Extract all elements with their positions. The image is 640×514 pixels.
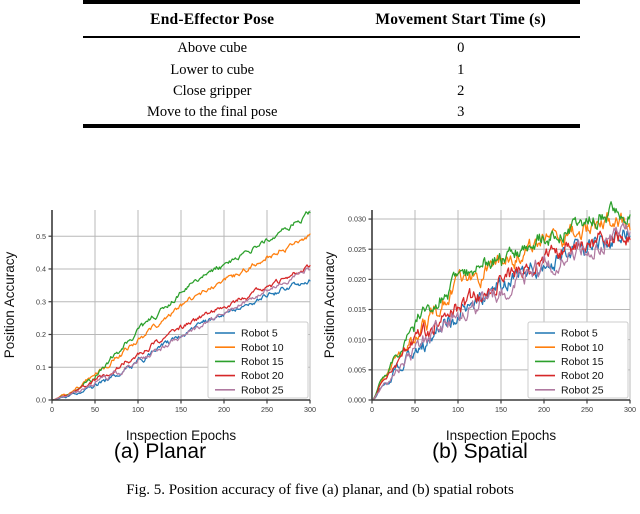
y-tick-label: 0.030: [348, 215, 366, 224]
cell-pose: Lower to cube: [83, 59, 341, 80]
y-tick-label: 0.015: [348, 305, 366, 314]
legend[interactable]: Robot 5Robot 10Robot 15Robot 20Robot 25: [528, 322, 628, 398]
x-tick-label: 100: [452, 405, 464, 414]
y-tick-label: 0.4: [36, 265, 46, 274]
x-tick-label: 50: [91, 405, 99, 414]
table-row: Close gripper2: [83, 81, 580, 102]
cell-time: 1: [341, 59, 580, 80]
spec-table: End-Effector Pose Movement Start Time (s…: [83, 4, 580, 36]
y-tick-label: 0.1: [36, 363, 46, 372]
y-tick-label: 0.010: [348, 335, 366, 344]
x-tick-label: 200: [218, 405, 230, 414]
x-tick-label: 150: [495, 405, 507, 414]
y-tick-label: 0.005: [348, 365, 366, 374]
legend-label-3: Robot 15: [241, 356, 284, 368]
legend-label-4: Robot 20: [241, 370, 284, 382]
legend-label-3: Robot 15: [561, 356, 604, 368]
x-tick-label: 250: [261, 405, 273, 414]
y-tick-label: 0.000: [348, 396, 366, 405]
cell-time: 0: [341, 38, 580, 59]
subcaption-planar: (a) Planar: [0, 440, 320, 464]
x-tick-label: 50: [411, 405, 419, 414]
legend-label-2: Robot 10: [241, 342, 284, 354]
cell-pose: Above cube: [83, 38, 341, 59]
x-tick-label: 0: [370, 405, 374, 414]
legend-label-4: Robot 20: [561, 370, 604, 382]
x-tick-label: 0: [50, 405, 54, 414]
y-tick-label: 0.2: [36, 330, 46, 339]
x-tick-label: 100: [132, 405, 144, 414]
y-tick-label: 0.0: [36, 396, 46, 405]
legend-label-2: Robot 10: [561, 342, 604, 354]
column-header-pose: End-Effector Pose: [83, 4, 341, 36]
x-tick-label: 150: [175, 405, 187, 414]
y-tick-label: 0.020: [348, 275, 366, 284]
column-header-time: Movement Start Time (s): [341, 4, 580, 36]
figure-caption: Fig. 5. Position accuracy of five (a) pl…: [0, 482, 640, 499]
y-tick-label: 0.5: [36, 232, 46, 241]
figure-block: 0.00.10.20.30.40.5050100150200250300Insp…: [0, 196, 640, 514]
cell-time: 2: [341, 81, 580, 102]
spec-table-block: End-Effector Pose Movement Start Time (s…: [83, 0, 580, 128]
chart-panel-spatial: 0.0000.0050.0100.0150.0200.0250.03005010…: [320, 196, 640, 446]
chart-panel-planar: 0.00.10.20.30.40.5050100150200250300Insp…: [0, 196, 320, 446]
table-row: Move to the final pose3: [83, 102, 580, 123]
table-row: Lower to cube1: [83, 59, 580, 80]
cell-time: 3: [341, 102, 580, 123]
chart-planar: 0.00.10.20.30.40.5050100150200250300Insp…: [0, 196, 320, 446]
y-axis-title: Position Accuracy: [322, 251, 337, 358]
x-tick-label: 250: [581, 405, 593, 414]
spec-table-body: Above cube0Lower to cube1Close gripper2M…: [83, 38, 580, 124]
y-axis-title: Position Accuracy: [2, 251, 17, 358]
legend-label-1: Robot 5: [241, 328, 278, 340]
y-tick-label: 0.025: [348, 245, 366, 254]
legend-label-5: Robot 25: [241, 384, 284, 396]
legend[interactable]: Robot 5Robot 10Robot 15Robot 20Robot 25: [208, 322, 308, 398]
x-tick-label: 200: [538, 405, 550, 414]
subcaption-spatial: (b) Spatial: [320, 440, 640, 464]
legend-label-1: Robot 5: [561, 328, 598, 340]
y-tick-label: 0.3: [36, 297, 46, 306]
cell-pose: Close gripper: [83, 81, 341, 102]
x-tick-label: 300: [624, 405, 636, 414]
x-tick-label: 300: [304, 405, 316, 414]
table-bottom-rule: [83, 124, 580, 128]
legend-label-5: Robot 25: [561, 384, 604, 396]
cell-pose: Move to the final pose: [83, 102, 341, 123]
table-row: Above cube0: [83, 38, 580, 59]
chart-spatial: 0.0000.0050.0100.0150.0200.0250.03005010…: [320, 196, 640, 446]
table-header-row: End-Effector Pose Movement Start Time (s…: [83, 4, 580, 36]
table-body: Above cube0Lower to cube1Close gripper2M…: [83, 38, 580, 124]
